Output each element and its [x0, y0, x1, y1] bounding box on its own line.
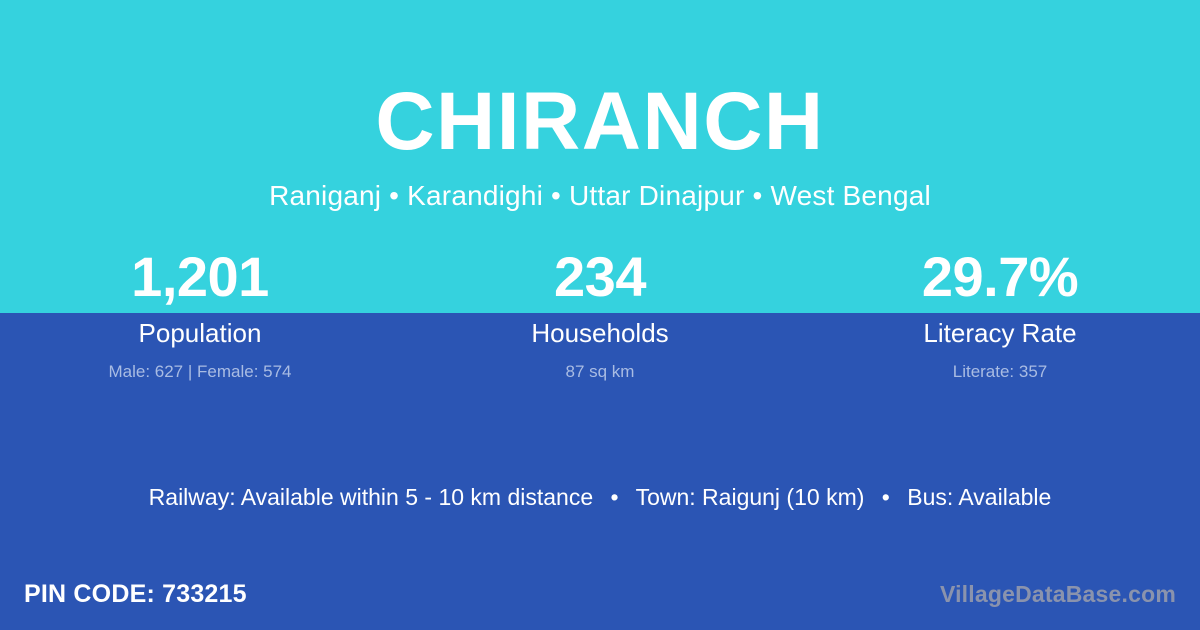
- card-footer: PIN CODE: 733215 VillageDataBase.com: [0, 575, 1200, 615]
- transport-info: Railway: Available within 5 - 10 km dist…: [0, 484, 1200, 512]
- stat-value-population: 1,201: [0, 246, 400, 310]
- stat-label-population: Population: [0, 310, 400, 348]
- railway-info: Railway: Available within 5 - 10 km dist…: [149, 484, 593, 510]
- village-info-card: CHIRANCH Raniganj • Karandighi • Uttar D…: [0, 0, 1200, 630]
- stat-label-households: Households: [400, 310, 800, 348]
- bullet-separator-icon: •: [600, 484, 630, 512]
- bus-info: Bus: Available: [907, 484, 1051, 510]
- site-watermark: VillageDataBase.com: [940, 582, 1200, 607]
- stat-sub-households: 87 sq km: [400, 348, 800, 382]
- stat-value-households: 234: [400, 246, 800, 310]
- breadcrumb: Raniganj • Karandighi • Uttar Dinajpur •…: [0, 162, 1200, 212]
- town-info: Town: Raigunj (10 km): [636, 484, 865, 510]
- stat-label-literacy-rate: Literacy Rate: [800, 310, 1200, 348]
- stat-population: 1,201 Population Male: 627 | Female: 574: [0, 246, 400, 381]
- pin-code: PIN CODE: 733215: [0, 581, 247, 609]
- stats-row: 1,201 Population Male: 627 | Female: 574…: [0, 246, 1200, 381]
- stat-sub-population: Male: 627 | Female: 574: [0, 348, 400, 382]
- stat-households: 234 Households 87 sq km: [400, 246, 800, 381]
- stat-literacy-rate: 29.7% Literacy Rate Literate: 357: [800, 246, 1200, 381]
- stat-sub-literacy-rate: Literate: 357: [800, 348, 1200, 382]
- bullet-separator-icon: •: [871, 484, 901, 512]
- stat-value-literacy-rate: 29.7%: [800, 246, 1200, 310]
- card-header: CHIRANCH Raniganj • Karandighi • Uttar D…: [0, 0, 1200, 212]
- page-title: CHIRANCH: [0, 0, 1200, 162]
